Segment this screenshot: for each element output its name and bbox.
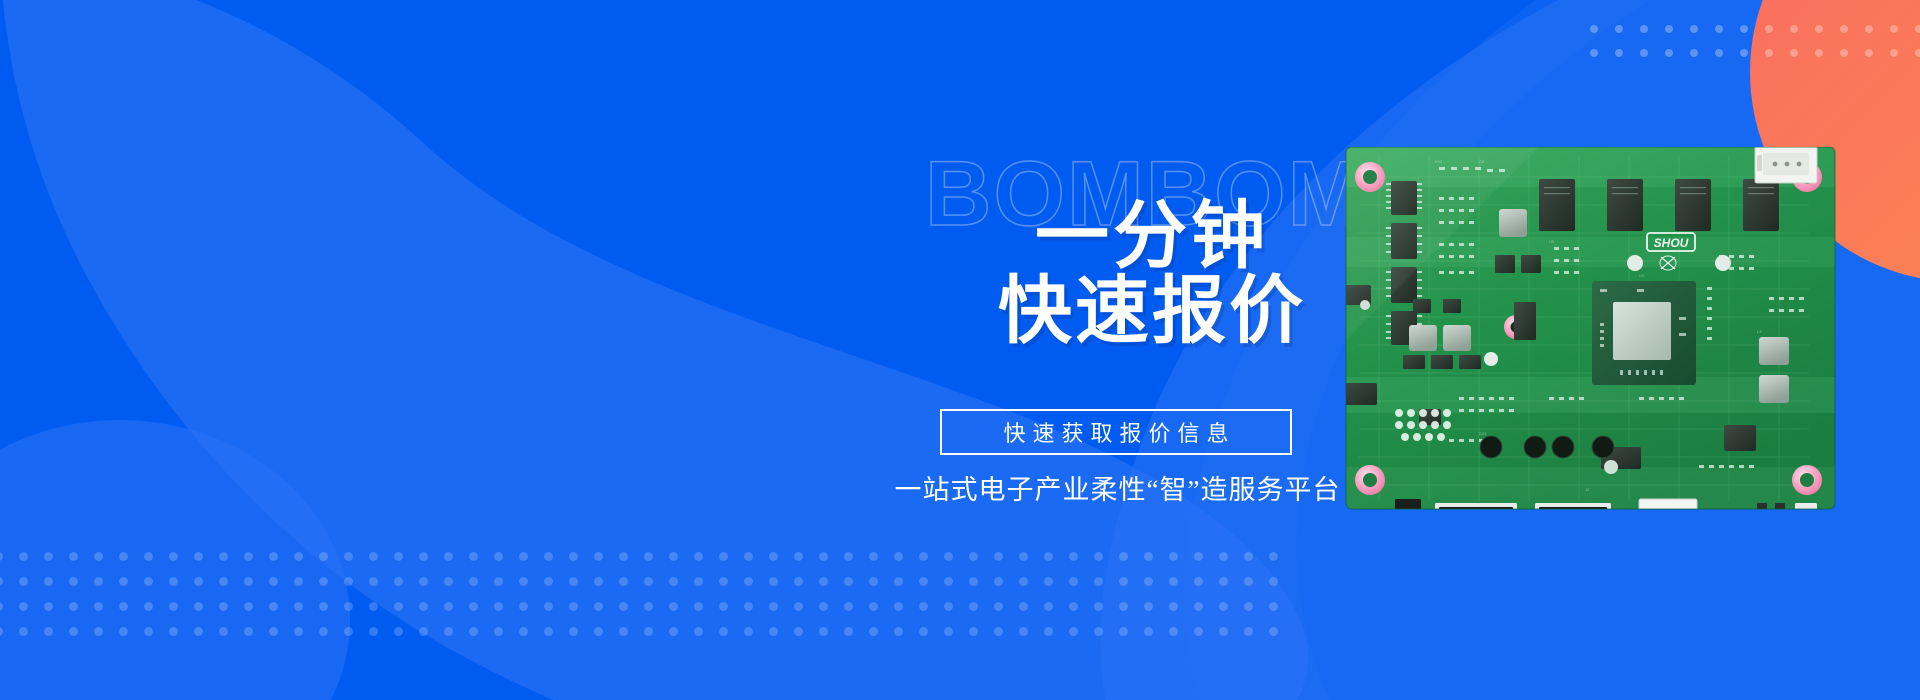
svg-text:U1: U1 <box>1639 273 1645 278</box>
pcb-motherboard-image: SHOU <box>1339 147 1842 528</box>
get-quote-button[interactable]: 快速获取报价信息 <box>940 409 1292 455</box>
pcb-svg: SHOU <box>1339 147 1842 528</box>
get-quote-button-label: 快速获取报价信息 <box>996 416 1235 448</box>
tagline: 一站式电子产业柔性“智”造服务平台 <box>845 468 1390 507</box>
headline-line-1: 一分钟 <box>942 198 1362 273</box>
svg-text:U5: U5 <box>1549 239 1555 244</box>
pcb-main-processor <box>1592 281 1696 385</box>
svg-text:L3: L3 <box>1757 329 1762 334</box>
page-title: 一分钟 快速报价 <box>942 198 1362 349</box>
headline-line-2: 快速报价 <box>942 273 1362 348</box>
pcb-card-slot-connector <box>1755 147 1817 183</box>
promo-banner: BOMBOM 一分钟 快速报价 快速获取报价信息 一站式电子产业柔性“智”造服务… <box>0 0 1920 700</box>
svg-text:C21: C21 <box>1479 431 1487 436</box>
svg-text:SHOU: SHOU <box>1654 236 1689 250</box>
